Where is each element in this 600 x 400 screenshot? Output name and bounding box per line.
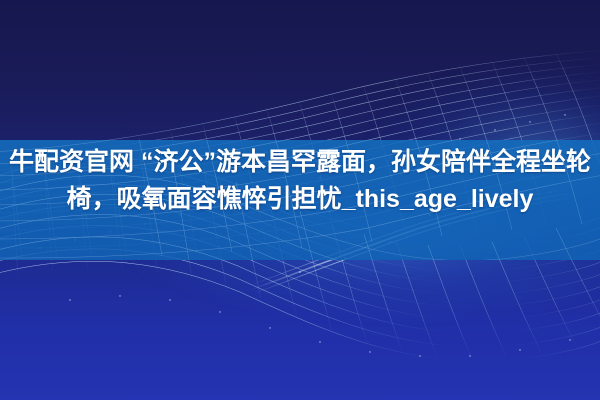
article-headline: 牛配资官网 “济公”游本昌罕露面，孙女陪伴全程坐轮椅，吸氧面容憔悴引担忧_thi… — [0, 144, 600, 218]
article-banner: 牛配资官网 “济公”游本昌罕露面，孙女陪伴全程坐轮椅，吸氧面容憔悴引担忧_thi… — [0, 0, 600, 400]
headline-container: 牛配资官网 “济公”游本昌罕露面，孙女陪伴全程坐轮椅，吸氧面容憔悴引担忧_thi… — [0, 140, 600, 260]
